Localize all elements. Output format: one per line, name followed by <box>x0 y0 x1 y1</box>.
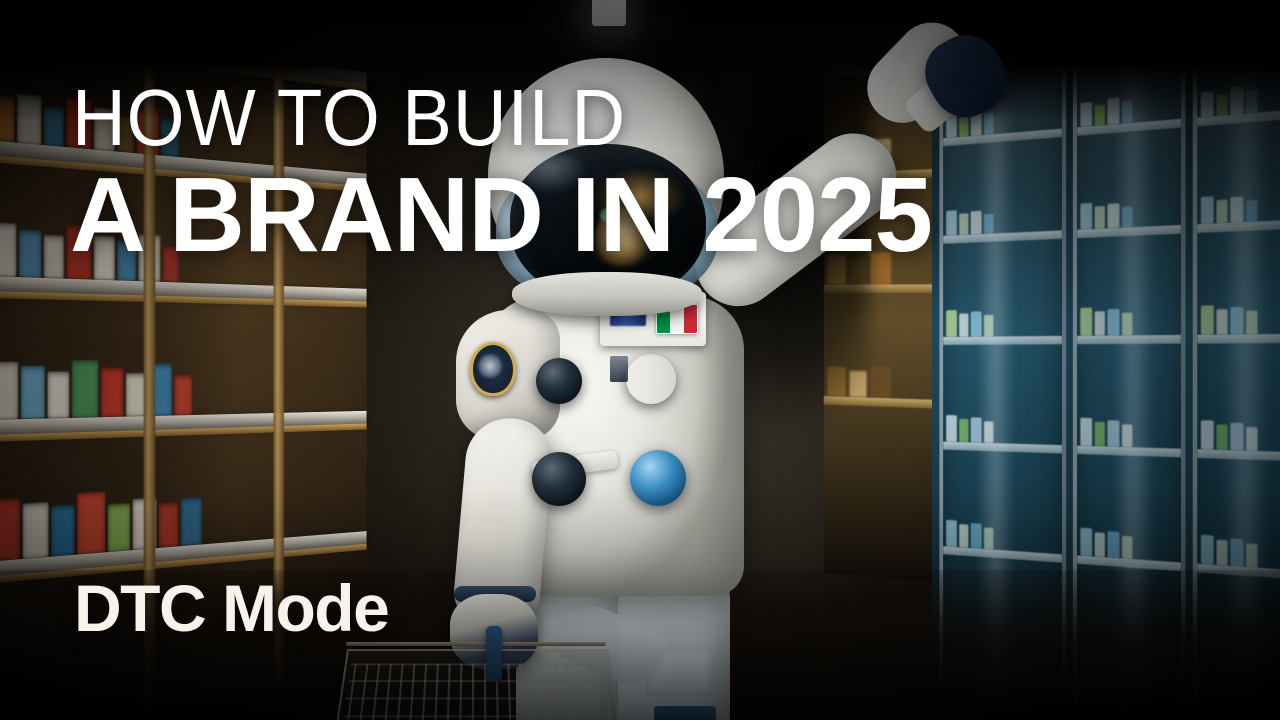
title-line-1: HOW TO BUILD <box>72 78 626 158</box>
youtube-thumbnail: HOW TO BUILD A BRAND IN 2025 DTC Mode <box>0 0 1280 720</box>
brand-label: DTC Mode <box>74 575 388 641</box>
title-line-2: A BRAND IN 2025 <box>70 162 932 268</box>
